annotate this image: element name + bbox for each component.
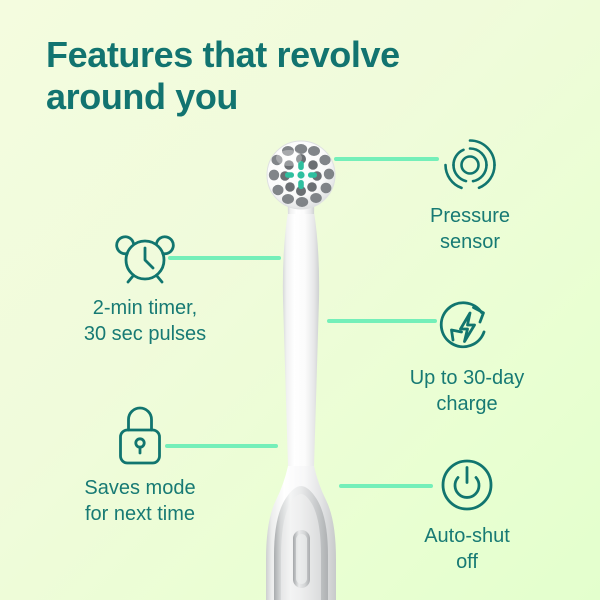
feature-label: Pressure sensor <box>375 204 565 255</box>
feature-saves-mode: Saves mode for next time <box>45 400 235 527</box>
feature-charge: Up to 30-day charge <box>372 290 562 417</box>
feature-label: Saves mode for next time <box>45 476 235 527</box>
alarm-clock-icon <box>50 220 240 294</box>
feature-label: Auto-shut off <box>372 524 562 575</box>
feature-pressure-sensor: Pressure sensor <box>375 128 565 255</box>
pressure-sensor-icon <box>375 128 565 202</box>
power-button-icon <box>372 448 562 522</box>
feature-label: Up to 30-day charge <box>372 366 562 417</box>
battery-charge-cycle-icon <box>372 290 562 364</box>
feature-auto-shut-off: Auto-shut off <box>372 448 562 575</box>
feature-timer: 2-min timer, 30 sec pulses <box>50 220 240 347</box>
feature-label: 2-min timer, 30 sec pulses <box>50 296 240 347</box>
padlock-icon <box>45 400 235 474</box>
page-title: Features that revolve around you <box>46 34 486 119</box>
feature-callout-graphic: Features that revolve around you <box>0 0 600 600</box>
